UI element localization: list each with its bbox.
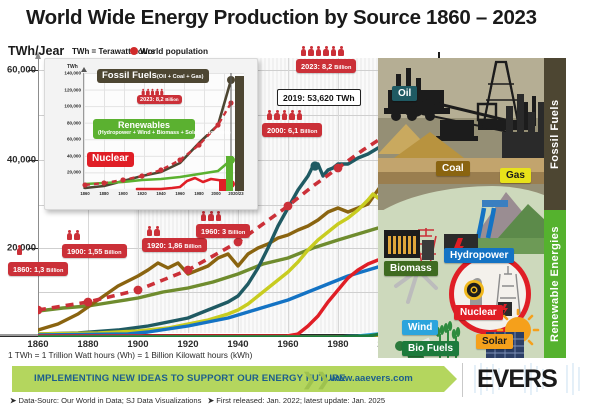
inset-chart: TWh 140,000 120,000 100,000 80,000 60,00…	[44, 58, 258, 210]
y-tick-label-40000: 40,000	[7, 155, 36, 166]
population-callout-2023-unit: Billion	[334, 65, 351, 71]
energy-sources-illustration: Oil Coal Gas Hydropower Biomass Nuclear …	[378, 58, 566, 358]
people-icon-2023	[300, 46, 345, 56]
x-tick-label-1920: 1920	[177, 339, 198, 350]
world-population-legend-label: World population	[140, 46, 208, 56]
people-icon-1960	[200, 211, 222, 221]
inset-tag-renewables: Renewables (Hydropower + Wind + Biomass …	[93, 119, 195, 139]
inset-bar-renewables	[226, 156, 233, 191]
population-callout-2000: 2000: 6,1 Billion	[262, 123, 322, 137]
x-axis-line-left	[0, 334, 38, 336]
population-callout-2000-unit: Billion	[300, 129, 317, 135]
bullet-arrow-icon: ➤	[10, 396, 16, 405]
world-population-legend-dot	[130, 47, 138, 55]
chevron-right-icon: ❯❯	[302, 370, 331, 390]
person-icon	[296, 110, 303, 120]
y-tick-label-60000: 60,000	[7, 65, 36, 76]
logo-text: EVERS	[477, 365, 557, 394]
x-tick-label-1960: 1960	[277, 339, 298, 350]
x-tick-label-1940: 1940	[227, 339, 248, 350]
person-icon	[208, 211, 215, 221]
data-source-text: Data-Sourc: Our World in Data; SJ Data V…	[19, 396, 202, 405]
people-icon-1860	[16, 245, 23, 255]
inset-population-callout-unit: Billion	[165, 97, 178, 102]
person-icon	[338, 46, 345, 56]
person-icon	[146, 226, 153, 236]
people-icon-2000	[266, 110, 303, 120]
inset-tag-fossil-fuels: Fossil Fuels(Oil + Coal + Gas)	[97, 69, 209, 83]
person-icon	[266, 110, 273, 120]
population-callout-2000-label: 2000: 6,1	[267, 126, 298, 135]
person-icon	[323, 46, 330, 56]
inset-population-callout-label: 2023: 8,2	[140, 97, 164, 103]
people-icon-1920	[146, 226, 161, 236]
population-callout-2023: 2023: 8,2 Billion	[296, 59, 356, 73]
population-callout-1960: 1960: 3 Billion	[196, 224, 250, 238]
inset-tag-renewables-label: Renewables	[118, 120, 170, 130]
population-callout-1900-unit: Billion	[104, 250, 121, 256]
population-callout-1900-label: 1900: 1,55	[67, 247, 102, 256]
population-callout-1920-label: 1920: 1,86	[147, 241, 182, 250]
population-callout-1920: 1920: 1,86 Billion	[142, 238, 207, 252]
bullet-arrow-icon: ➤	[208, 396, 214, 405]
x-tick-label-1900: 1900	[127, 339, 148, 350]
source-label-nuclear: Nuclear	[454, 305, 503, 320]
person-icon	[308, 46, 315, 56]
population-callout-1860-unit: Billion	[46, 268, 63, 274]
inset-bar-fossil	[235, 76, 244, 191]
source-label-oil: Oil	[392, 86, 417, 101]
company-logo[interactable]: EVERS	[462, 363, 595, 397]
source-label-wind: Wind	[402, 320, 438, 335]
population-callout-1860: 1860: 1,3 Billion	[8, 262, 68, 276]
conversion-note: 1 TWh = 1 Trillion Watt hours (Wh) = 1 B…	[8, 350, 252, 360]
infographic-root: World Wide Energy Production by Source 1…	[0, 0, 600, 410]
slogan-banner: IMPLEMENTING NEW IDEAS TO SUPPORT OUR EN…	[12, 366, 444, 392]
person-icon	[16, 245, 23, 255]
person-icon	[274, 110, 281, 120]
person-icon	[66, 230, 73, 240]
population-callout-1920-unit: Billion	[184, 244, 201, 250]
band-fossil-fuels: Fossil Fuels	[544, 58, 566, 210]
person-icon	[74, 230, 81, 240]
inset-bar-nuclear	[219, 179, 226, 191]
inset-tag-fossil-label: Fossil Fuels	[102, 70, 157, 81]
source-label-solar: Solar	[476, 334, 513, 349]
inset-population-points	[82, 100, 233, 187]
x-tick-label-1860: 1860	[27, 339, 48, 350]
source-label-biofuels: Bio Fuels	[402, 341, 459, 356]
release-date-text: First released: Jan. 2022; latest update…	[216, 396, 385, 405]
source-label-hydropower: Hydropower	[444, 248, 514, 263]
twh-2019-callout: 2019: 53,620 TWh	[277, 89, 361, 106]
person-icon	[154, 226, 161, 236]
population-callout-2023-label: 2023: 8,2	[301, 62, 332, 71]
inset-tag-nuclear: Nuclear	[87, 152, 134, 167]
website-url[interactable]: www.aaevers.com	[330, 373, 413, 384]
source-label-gas: Gas	[500, 168, 531, 183]
inset-population-callout-2023: 2023: 8,2 Billion	[137, 95, 182, 104]
footer-sources: ➤ Data-Sourc: Our World in Data; SJ Data…	[10, 396, 385, 405]
population-callout-1900: 1900: 1,55 Billion	[62, 244, 127, 258]
person-icon	[200, 211, 207, 221]
person-icon	[289, 110, 296, 120]
person-icon	[215, 211, 222, 221]
source-label-coal: Coal	[436, 161, 470, 176]
population-callout-1860-label: 1860: 1,3	[13, 265, 44, 274]
band-renewable-energies: Renewable Energies	[544, 210, 566, 358]
inset-tag-fossil-sub: (Oil + Coal + Gas)	[157, 74, 204, 80]
x-tick-label-1880: 1880	[77, 339, 98, 350]
person-icon	[300, 46, 307, 56]
slogan-text: IMPLEMENTING NEW IDEAS TO SUPPORT OUR EN…	[34, 373, 346, 384]
source-label-biomass: Biomass	[384, 261, 438, 276]
people-icon-1900	[66, 230, 81, 240]
population-callout-1960-unit: Billion	[228, 230, 245, 236]
population-callout-1960-label: 1960: 3	[201, 227, 226, 236]
person-icon	[315, 46, 322, 56]
page-title: World Wide Energy Production by Source 1…	[26, 6, 537, 30]
person-icon	[330, 46, 337, 56]
person-icon	[281, 110, 288, 120]
inset-tag-renewables-sub: (Hydropower + Wind + Biomass + Solar + B…	[98, 130, 190, 137]
x-tick-label-1980: 1980	[327, 339, 348, 350]
